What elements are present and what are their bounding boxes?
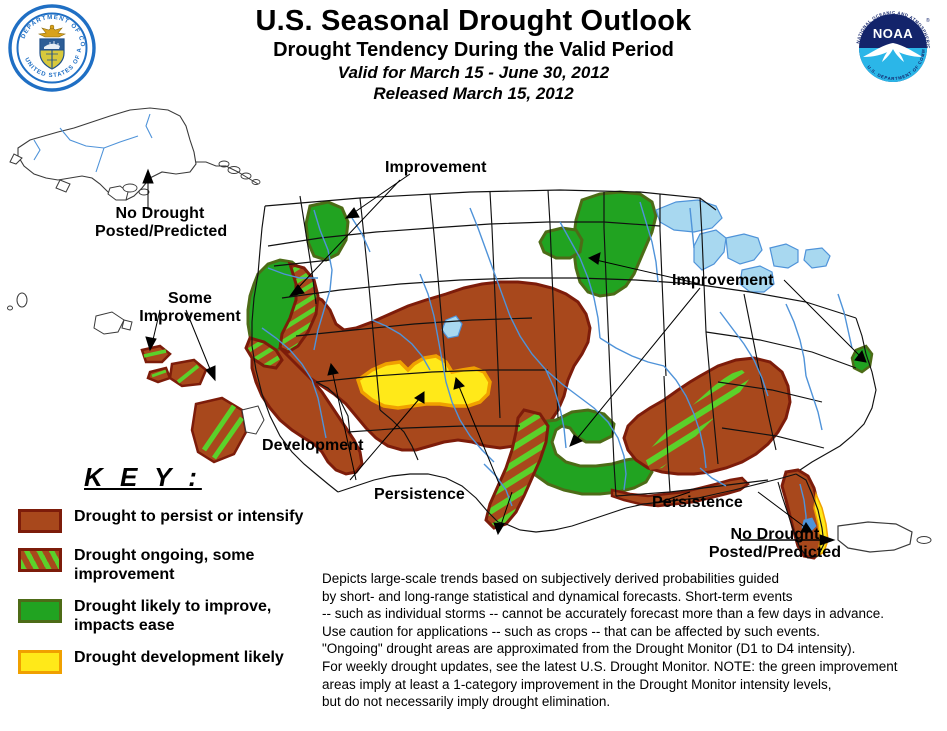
annotation-persistence-southeast: Persistence: [652, 494, 743, 512]
disclaimer-line-6: For weekly drought updates, see the late…: [322, 658, 936, 676]
annotation-development: Development: [262, 437, 364, 455]
alaska-no-drought-line1: No Drought: [95, 205, 225, 223]
disclaimer-line-3: -- such as individual storms -- cannot b…: [322, 605, 936, 623]
drought-outlook-map: DEPARTMENT OF COMMERCE UNITED STATES OF …: [0, 0, 947, 731]
legend-label-persist: Drought to persist or intensify: [74, 507, 303, 526]
disclaimer-line-1: Depicts large-scale trends based on subj…: [322, 570, 936, 588]
alaska-outline: [10, 108, 260, 200]
department-of-commerce-seal-icon: DEPARTMENT OF COMMERCE UNITED STATES OF …: [6, 2, 98, 94]
svg-text:®: ®: [926, 17, 930, 24]
legend-swatch-ongoing: [18, 548, 62, 572]
annotation-puerto-rico-no-drought: No Drought Posted/Predicted: [700, 526, 850, 562]
disclaimer-line-5: "Ongoing" drought areas are approximated…: [322, 640, 936, 658]
legend-item-develop: Drought development likely: [18, 648, 318, 674]
annotation-alaska-no-drought: No Drought Posted/Predicted: [95, 205, 225, 241]
disclaimer-line-7: areas imply at least a 1-category improv…: [322, 676, 936, 694]
disclaimer-line-2: by short- and long-range statistical and…: [322, 588, 936, 606]
legend-item-ongoing: Drought ongoing, some improvement: [18, 546, 318, 584]
legend-swatch-develop: [18, 650, 62, 674]
legend-title: K E Y :: [84, 462, 318, 493]
hawaii-some-line2: Improvement: [130, 308, 250, 326]
legend-label-ongoing: Drought ongoing, some improvement: [74, 546, 318, 584]
legend: K E Y : Drought to persist or intensify …: [18, 462, 318, 687]
legend-item-persist: Drought to persist or intensify: [18, 507, 318, 533]
disclaimer-line-8: but do not necessarily imply drought eli…: [322, 693, 936, 711]
valid-period: Valid for March 15 - June 30, 2012: [0, 62, 947, 83]
hawaii-some-line1: Some: [130, 290, 250, 308]
page-title: U.S. Seasonal Drought Outlook: [0, 4, 947, 38]
pr-no-drought-line1: No Drought: [700, 526, 850, 544]
annotation-improvement-northeast: Improvement: [672, 272, 774, 290]
disclaimer-text: Depicts large-scale trends based on subj…: [322, 570, 936, 711]
region-dakota-improvement-arm: [540, 228, 582, 258]
legend-swatch-persist: [18, 509, 62, 533]
legend-label-improve: Drought likely to improve, impacts ease: [74, 597, 318, 635]
annotation-persistence-southwest: Persistence: [374, 486, 465, 504]
legend-swatch-improve: [18, 599, 62, 623]
pr-no-drought-line2: Posted/Predicted: [700, 544, 850, 562]
alaska-no-drought-line2: Posted/Predicted: [95, 223, 225, 241]
annotation-hawaii-some-improvement: Some Improvement: [130, 290, 250, 326]
legend-label-develop: Drought development likely: [74, 648, 284, 667]
annotation-improvement-northwest: Improvement: [385, 159, 487, 177]
svg-text:NOAA: NOAA: [873, 26, 913, 41]
disclaimer-line-4: Use caution for applications -- such as …: [322, 623, 936, 641]
noaa-logo-icon: NOAA NATIONAL OCEANIC AND ATMOSPHERIC AD…: [847, 2, 939, 94]
legend-item-improve: Drought likely to improve, impacts ease: [18, 597, 318, 635]
puerto-rico-outline: [838, 522, 931, 552]
page-subtitle: Drought Tendency During the Valid Period: [0, 38, 947, 62]
